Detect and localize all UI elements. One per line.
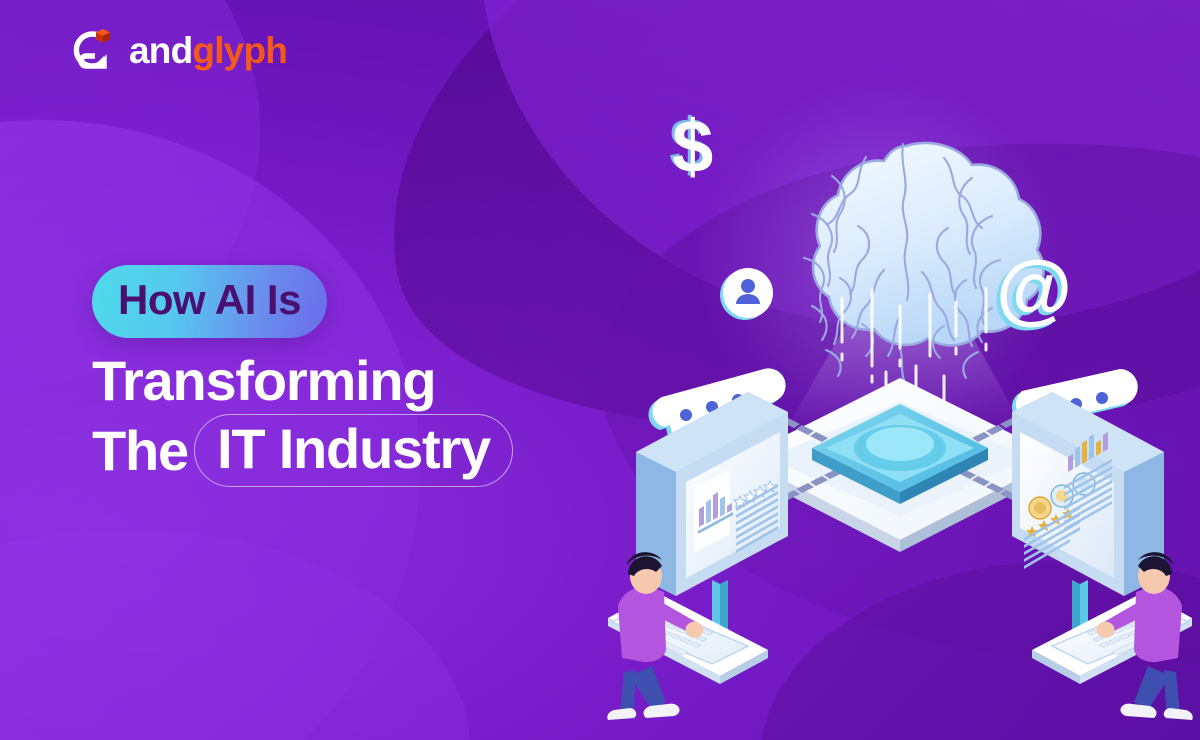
brand-name-and: and xyxy=(129,32,192,69)
left-workstation xyxy=(607,392,788,720)
banner-root: andglyph How AI Is Transforming The IT I… xyxy=(0,0,1200,740)
andglyph-g-mark-icon xyxy=(68,26,116,74)
headline-highlight-it-industry: IT Industry xyxy=(194,414,513,487)
at-sign-icon: @ @ xyxy=(992,244,1072,335)
background-blob-bottom-left xyxy=(0,530,470,740)
brand-logo[interactable]: andglyph xyxy=(68,26,287,74)
user-badge-icon xyxy=(720,268,773,320)
svg-text:@: @ xyxy=(996,244,1072,332)
hero-illustration: $ $ $ @ @ xyxy=(600,110,1200,730)
dollar-icon: $ $ $ xyxy=(669,103,713,188)
brand-wordmark: andglyph xyxy=(129,32,287,69)
headline-line-1: How AI Is xyxy=(92,265,327,338)
headline-line-3-prefix: The xyxy=(92,422,188,480)
brand-name-glyph: glyph xyxy=(192,32,287,69)
right-workstation xyxy=(1012,392,1193,720)
svg-text:$: $ xyxy=(672,105,713,188)
